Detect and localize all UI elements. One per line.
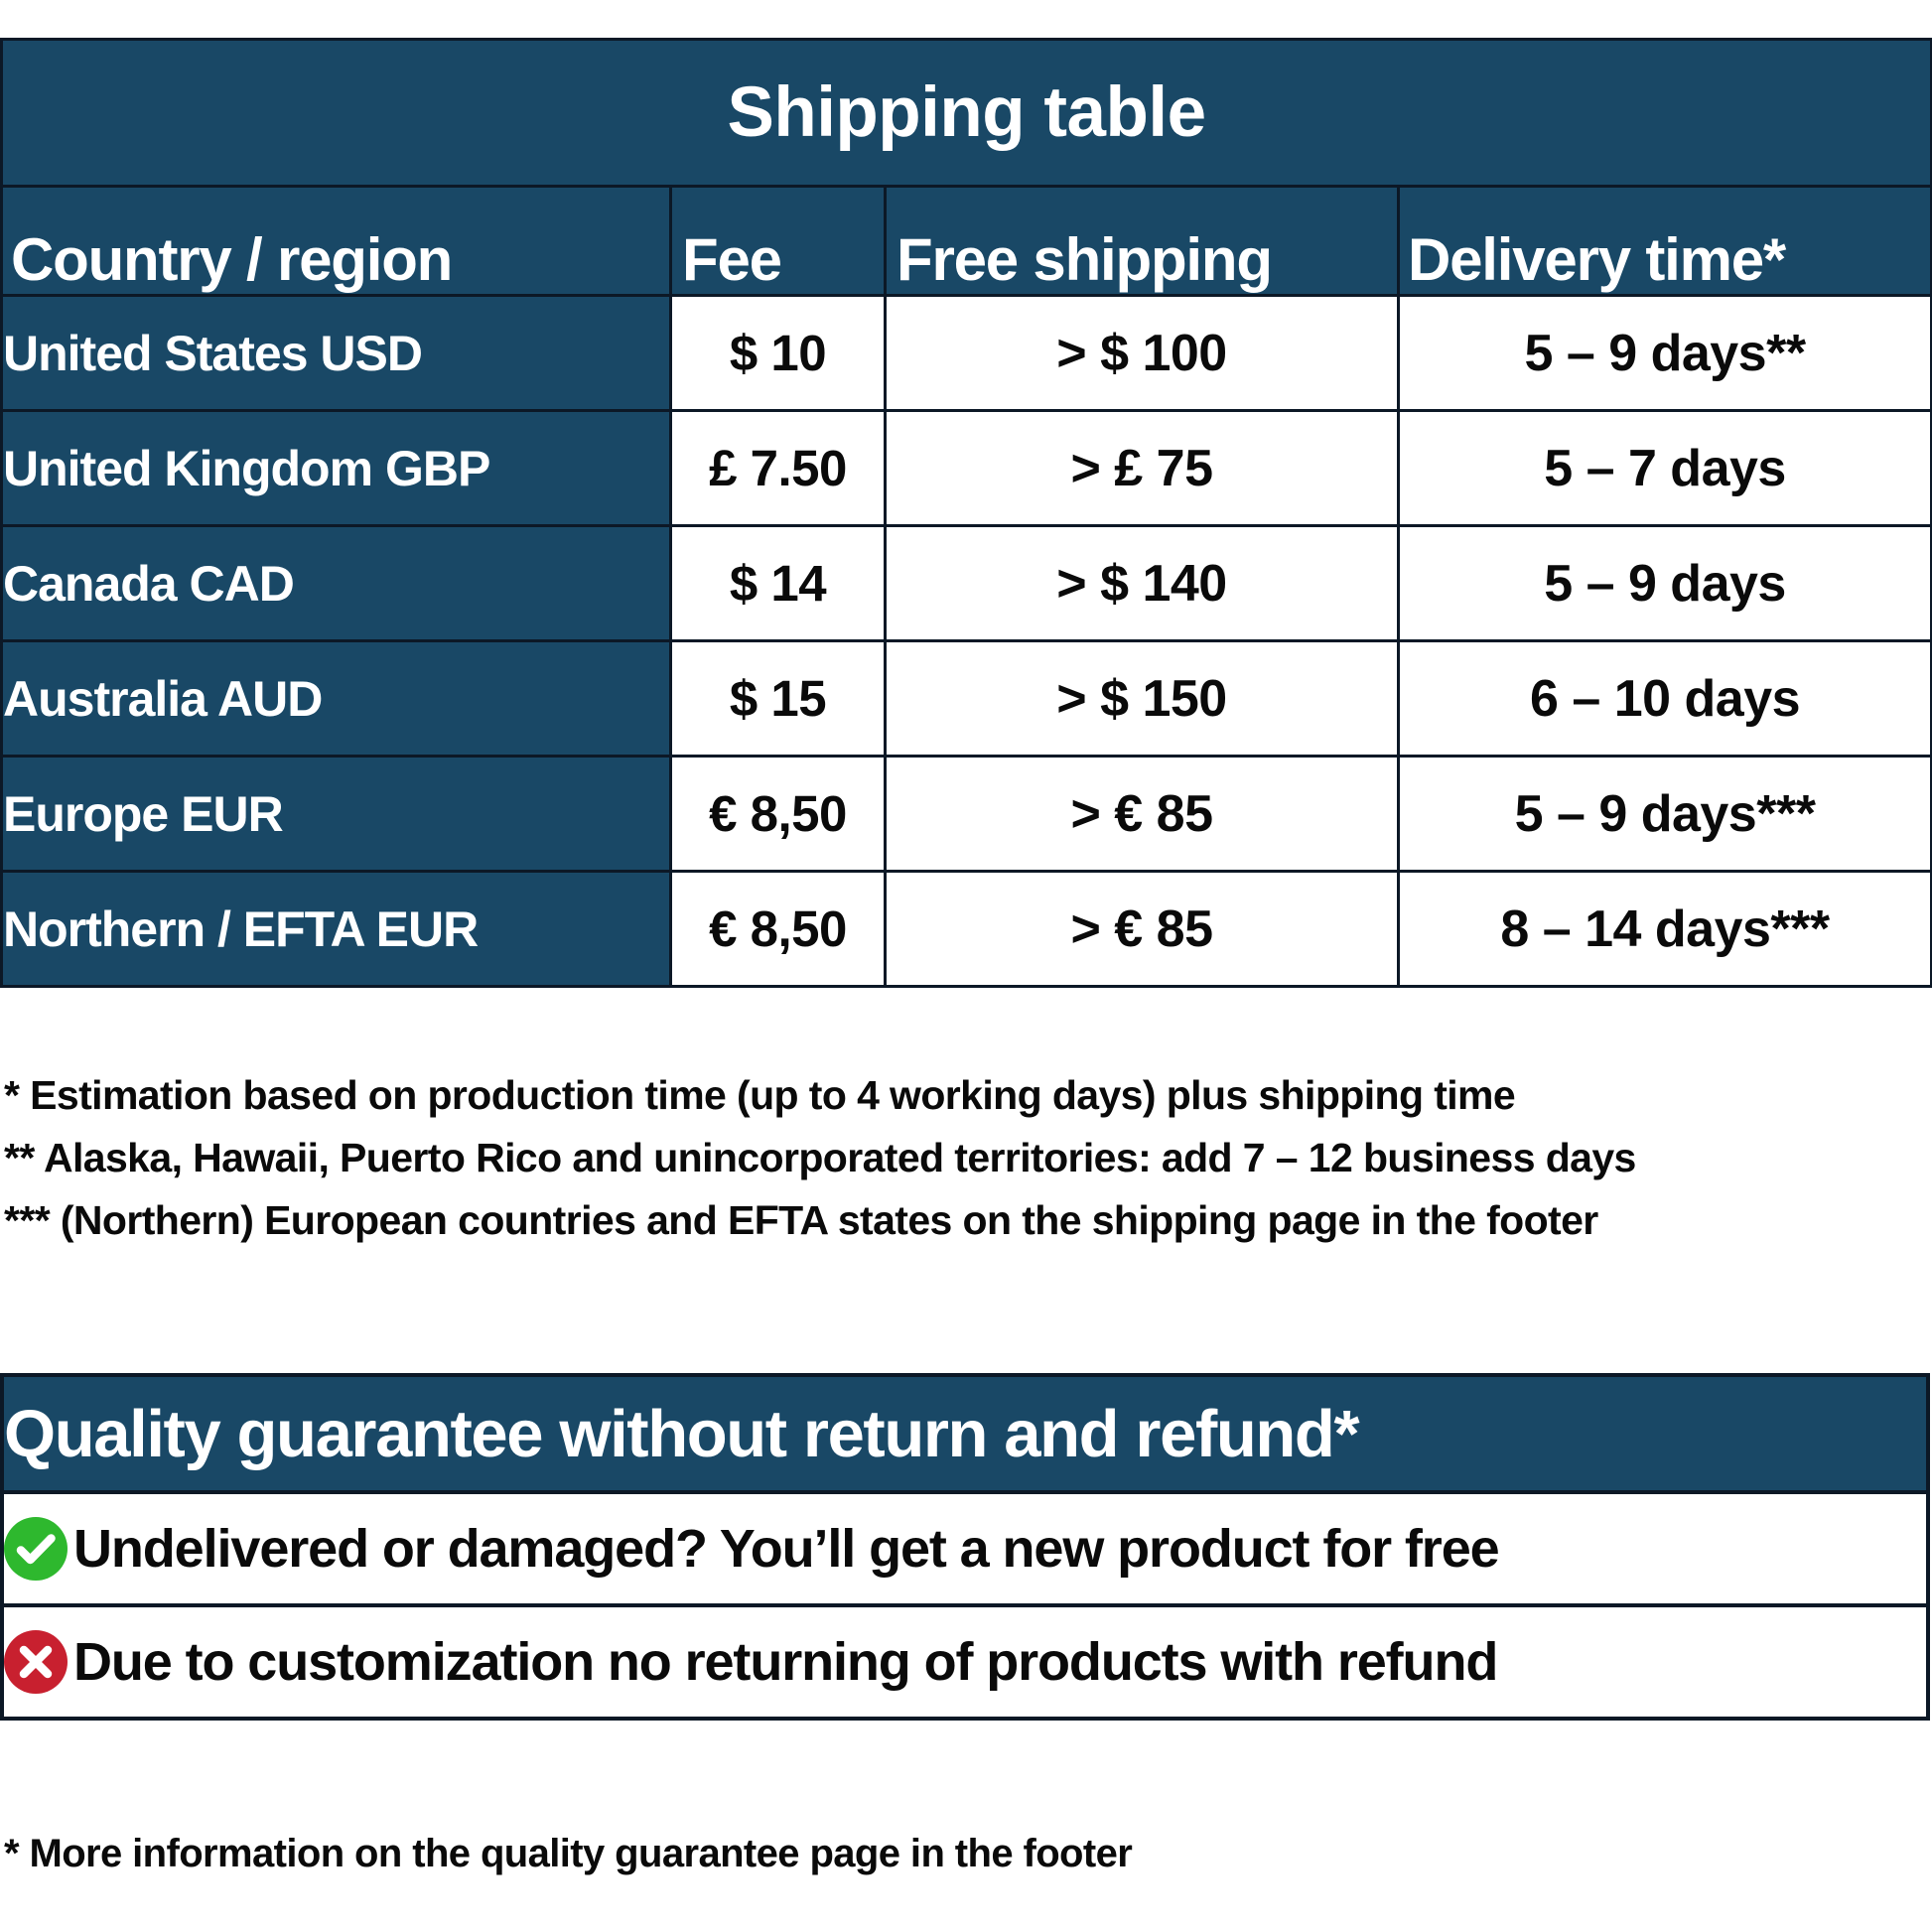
cell-fee: € 8,50 xyxy=(671,757,886,872)
cell-free-shipping: > € 85 xyxy=(886,872,1399,987)
table-row: Australia AUD $ 15 > $ 150 6 – 10 days xyxy=(2,641,1932,757)
check-circle-icon xyxy=(4,1517,68,1581)
cell-delivery-time: 5 – 9 days xyxy=(1399,526,1932,641)
cell-country: United States USD xyxy=(2,296,671,411)
table-row: United States USD $ 10 > $ 100 5 – 9 day… xyxy=(2,296,1932,411)
table-row: Northern / EFTA EUR € 8,50 > € 85 8 – 14… xyxy=(2,872,1932,987)
cell-delivery-time: 5 – 7 days xyxy=(1399,411,1932,526)
table-row: Europe EUR € 8,50 > € 85 5 – 9 days*** xyxy=(2,757,1932,872)
cell-free-shipping: > € 85 xyxy=(886,757,1399,872)
footnote-double-asterisk: ** Alaska, Hawaii, Puerto Rico and uninc… xyxy=(4,1127,1930,1189)
column-header-country: Country / region xyxy=(2,187,671,296)
list-item: Due to customization no returning of pro… xyxy=(2,1605,1928,1719)
cell-country: Australia AUD xyxy=(2,641,671,757)
cell-free-shipping: > $ 150 xyxy=(886,641,1399,757)
quality-guarantee-footnote: * More information on the quality guaran… xyxy=(4,1832,1132,1876)
shipping-info-page: Shipping table Country / region Fee Free… xyxy=(0,0,1932,1932)
cell-country: United Kingdom GBP xyxy=(2,411,671,526)
cell-delivery-time: 5 – 9 days** xyxy=(1399,296,1932,411)
table-title-row: Shipping table xyxy=(2,40,1932,187)
cell-delivery-time: 5 – 9 days*** xyxy=(1399,757,1932,872)
shipping-table-title: Shipping table xyxy=(2,40,1932,187)
shipping-table: Shipping table Country / region Fee Free… xyxy=(0,38,1932,988)
quality-item-negative: Due to customization no returning of pro… xyxy=(2,1605,1928,1719)
cell-free-shipping: > $ 140 xyxy=(886,526,1399,641)
column-header-free-shipping: Free shipping xyxy=(886,187,1399,296)
x-circle-icon xyxy=(4,1630,68,1694)
quality-guarantee-container: Quality guarantee without return and ref… xyxy=(0,1373,1930,1721)
cell-fee: $ 10 xyxy=(671,296,886,411)
cell-free-shipping: > $ 100 xyxy=(886,296,1399,411)
quality-title-row: Quality guarantee without return and ref… xyxy=(2,1375,1928,1492)
cell-country: Northern / EFTA EUR xyxy=(2,872,671,987)
cell-fee: $ 15 xyxy=(671,641,886,757)
cell-country: Europe EUR xyxy=(2,757,671,872)
column-header-fee: Fee xyxy=(671,187,886,296)
table-row: United Kingdom GBP £ 7.50 > £ 75 5 – 7 d… xyxy=(2,411,1932,526)
quality-guarantee-title: Quality guarantee without return and ref… xyxy=(2,1375,1928,1492)
quality-item-text: Undelivered or damaged? You’ll get a new… xyxy=(73,1522,1499,1576)
footnote-triple-asterisk: *** (Northern) European countries and EF… xyxy=(4,1189,1930,1252)
cell-country: Canada CAD xyxy=(2,526,671,641)
quality-item-text: Due to customization no returning of pro… xyxy=(73,1635,1497,1689)
cell-fee: $ 14 xyxy=(671,526,886,641)
footnote-single-asterisk: * Estimation based on production time (u… xyxy=(4,1064,1930,1127)
cell-fee: € 8,50 xyxy=(671,872,886,987)
quality-item-positive: Undelivered or damaged? You’ll get a new… xyxy=(2,1492,1928,1605)
table-row: Canada CAD $ 14 > $ 140 5 – 9 days xyxy=(2,526,1932,641)
table-header-row: Country / region Fee Free shipping Deliv… xyxy=(2,187,1932,296)
shipping-footnotes: * Estimation based on production time (u… xyxy=(4,1064,1930,1252)
cell-delivery-time: 8 – 14 days*** xyxy=(1399,872,1932,987)
cell-delivery-time: 6 – 10 days xyxy=(1399,641,1932,757)
cell-fee: £ 7.50 xyxy=(671,411,886,526)
cell-free-shipping: > £ 75 xyxy=(886,411,1399,526)
shipping-table-container: Shipping table Country / region Fee Free… xyxy=(0,38,1930,988)
quality-guarantee-table: Quality guarantee without return and ref… xyxy=(0,1373,1930,1721)
list-item: Undelivered or damaged? You’ll get a new… xyxy=(2,1492,1928,1605)
column-header-delivery-time: Delivery time* xyxy=(1399,187,1932,296)
